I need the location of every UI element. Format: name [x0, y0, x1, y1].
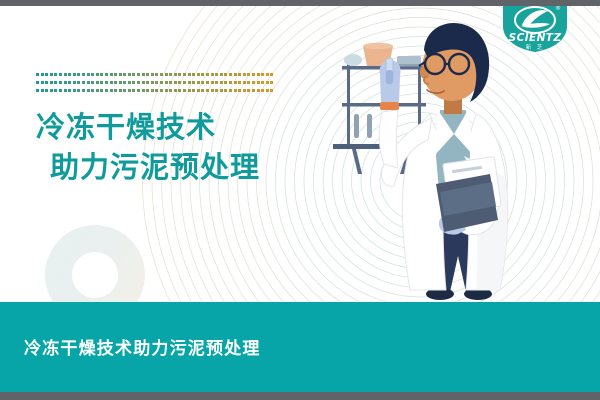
dot	[36, 73, 39, 76]
dot	[211, 73, 214, 76]
dot	[128, 73, 131, 76]
dot	[183, 89, 186, 92]
dot	[243, 73, 246, 76]
dot	[174, 73, 177, 76]
dot	[114, 81, 117, 84]
dot	[36, 81, 39, 84]
dot	[87, 73, 90, 76]
dot	[234, 73, 237, 76]
dot	[96, 89, 99, 92]
dot	[114, 89, 117, 92]
dot	[50, 89, 53, 92]
dot	[87, 89, 90, 92]
dot	[64, 81, 67, 84]
dot	[73, 89, 76, 92]
dot	[41, 81, 44, 84]
dot	[229, 73, 232, 76]
dot	[68, 73, 71, 76]
dot	[123, 89, 126, 92]
dot	[82, 89, 85, 92]
dot	[169, 89, 172, 92]
dot	[155, 81, 158, 84]
dot	[146, 73, 149, 76]
dot	[215, 73, 218, 76]
dot	[174, 89, 177, 92]
dot	[206, 81, 209, 84]
caption-band: 冷冻干燥技术助力污泥预处理	[0, 302, 600, 392]
dot	[146, 89, 149, 92]
dot	[137, 73, 140, 76]
dot	[257, 73, 260, 76]
dot	[137, 89, 140, 92]
dot	[91, 81, 94, 84]
dot	[73, 81, 76, 84]
dot	[252, 81, 255, 84]
dot	[73, 73, 76, 76]
dot	[224, 81, 227, 84]
dot	[229, 81, 232, 84]
scientist-figure	[379, 23, 507, 300]
dot	[160, 81, 163, 84]
dot	[220, 89, 223, 92]
dot	[270, 89, 273, 92]
scientz-logo[interactable]: ® SCIENTZ 新 芝	[501, 0, 569, 52]
dot	[229, 89, 232, 92]
dot	[105, 89, 108, 92]
dot	[68, 81, 71, 84]
bottom-chrome-bar	[0, 392, 600, 400]
dot	[160, 73, 163, 76]
dot	[59, 73, 62, 76]
dot	[165, 73, 168, 76]
dot	[132, 73, 135, 76]
dot	[50, 73, 53, 76]
dot	[201, 89, 204, 92]
dot	[192, 89, 195, 92]
dot	[45, 73, 48, 76]
dot	[174, 81, 177, 84]
dot-grid-row	[36, 89, 275, 97]
dot	[54, 89, 57, 92]
dot	[234, 89, 237, 92]
dot	[41, 73, 44, 76]
dot	[54, 73, 57, 76]
dot	[68, 89, 71, 92]
dot	[100, 89, 103, 92]
dot	[110, 81, 113, 84]
dot	[119, 73, 122, 76]
dot	[114, 73, 117, 76]
dot	[82, 73, 85, 76]
dot	[165, 89, 168, 92]
dot	[266, 89, 269, 92]
dot	[183, 81, 186, 84]
dot	[77, 89, 80, 92]
dot	[220, 81, 223, 84]
dot	[169, 81, 172, 84]
dot	[45, 81, 48, 84]
dot	[91, 73, 94, 76]
dot	[123, 73, 126, 76]
dot	[87, 81, 90, 84]
dot	[160, 89, 163, 92]
dot	[261, 89, 264, 92]
dot	[100, 81, 103, 84]
dot	[238, 73, 241, 76]
dot	[77, 73, 80, 76]
dot	[201, 81, 204, 84]
dot	[36, 89, 39, 92]
dot	[82, 81, 85, 84]
dot	[142, 89, 145, 92]
dot	[110, 89, 113, 92]
dot-grid-row	[36, 73, 275, 81]
dot	[151, 89, 154, 92]
dot	[224, 89, 227, 92]
dot	[201, 73, 204, 76]
dot	[155, 73, 158, 76]
top-chrome-bar	[0, 0, 600, 6]
dot	[54, 81, 57, 84]
headline-line-2: 助力污泥预处理	[36, 147, 260, 187]
logo-sub-text: 新 芝	[526, 43, 545, 51]
dot	[197, 73, 200, 76]
dot	[257, 81, 260, 84]
dot	[206, 73, 209, 76]
dot	[41, 89, 44, 92]
dot	[247, 73, 250, 76]
registered-mark: ®	[555, 5, 561, 12]
dot	[142, 81, 145, 84]
dot-grid-decoration	[36, 73, 275, 97]
dot	[132, 81, 135, 84]
dot	[165, 81, 168, 84]
dot	[183, 73, 186, 76]
dot	[119, 81, 122, 84]
dot	[188, 89, 191, 92]
dot	[64, 73, 67, 76]
dot	[192, 73, 195, 76]
dot	[151, 73, 154, 76]
dot	[206, 89, 209, 92]
dot	[100, 73, 103, 76]
dot	[59, 89, 62, 92]
dot	[197, 81, 200, 84]
dot	[188, 81, 191, 84]
dot	[215, 81, 218, 84]
dot	[188, 73, 191, 76]
dot	[128, 89, 131, 92]
dot	[215, 89, 218, 92]
dot	[266, 81, 269, 84]
dot	[224, 73, 227, 76]
dot	[178, 89, 181, 92]
dot	[45, 89, 48, 92]
dot	[234, 81, 237, 84]
dot	[137, 81, 140, 84]
dot	[169, 73, 172, 76]
page-title: 冷冻干燥技术 助力污泥预处理	[36, 107, 260, 187]
dot	[247, 81, 250, 84]
dot	[110, 73, 113, 76]
dot	[266, 73, 269, 76]
dot	[243, 89, 246, 92]
poster-canvas: 冷冻干燥技术 助力污泥预处理	[0, 0, 600, 400]
dot	[142, 73, 145, 76]
dot	[128, 81, 131, 84]
dot	[197, 89, 200, 92]
dot	[119, 89, 122, 92]
dot	[64, 89, 67, 92]
dot	[261, 73, 264, 76]
dot	[257, 89, 260, 92]
dot	[252, 73, 255, 76]
dot	[178, 73, 181, 76]
dot	[220, 73, 223, 76]
dot	[238, 89, 241, 92]
dot	[211, 89, 214, 92]
dot	[247, 89, 250, 92]
dot	[270, 81, 273, 84]
dot	[243, 81, 246, 84]
dot	[105, 73, 108, 76]
dot	[96, 73, 99, 76]
caption-text: 冷冻干燥技术助力污泥预处理	[24, 334, 261, 359]
dot	[50, 81, 53, 84]
headline-line-1: 冷冻干燥技术	[36, 107, 260, 147]
dot	[252, 89, 255, 92]
dot	[261, 81, 264, 84]
dot	[96, 81, 99, 84]
dot	[123, 81, 126, 84]
dot	[59, 81, 62, 84]
dot	[105, 81, 108, 84]
dot	[132, 89, 135, 92]
dot	[155, 89, 158, 92]
dot	[91, 89, 94, 92]
dot	[77, 81, 80, 84]
dot	[178, 81, 181, 84]
dot	[238, 81, 241, 84]
dot	[211, 81, 214, 84]
artboard: 冷冻干燥技术 助力污泥预处理	[0, 6, 600, 392]
dot	[192, 81, 195, 84]
dot	[146, 81, 149, 84]
dot-grid-row	[36, 81, 275, 89]
logo-brand-text: SCIENTZ	[509, 32, 562, 44]
dot	[151, 81, 154, 84]
dot	[270, 73, 273, 76]
